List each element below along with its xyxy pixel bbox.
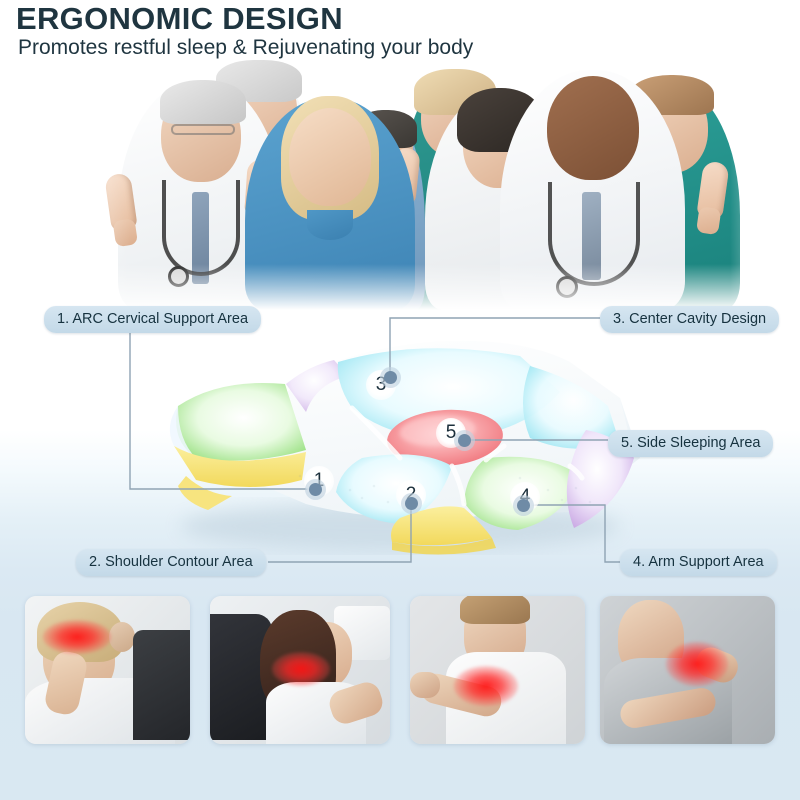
pain-highlight — [666, 642, 728, 686]
pain-highlight — [43, 620, 111, 654]
symptom-card-headache[interactable]: Headache — [25, 596, 190, 744]
neck-pain-photo — [210, 596, 390, 744]
page-title: ERGONOMIC DESIGN — [16, 1, 343, 37]
marker-dot-4 — [517, 499, 530, 512]
symptom-card-arm-numbness[interactable]: Arm Numbness — [410, 596, 585, 744]
pain-highlight — [272, 652, 330, 686]
marker-dot-2 — [405, 497, 418, 510]
callout-pill-3[interactable]: 3. Center Cavity Design — [600, 306, 779, 333]
callout-pill-5[interactable]: 5. Side Sleeping Area — [608, 430, 773, 457]
marker-dot-5 — [458, 434, 471, 447]
page-subtitle: Promotes restful sleep & Rejuvenating yo… — [18, 36, 473, 60]
callout-pill-4[interactable]: 4. Arm Support Area — [620, 549, 777, 576]
symptom-card-neck-pain[interactable]: Neck Pain — [210, 596, 390, 744]
symptom-cards-row: Headache Neck Pain Arm Numbness — [0, 596, 800, 800]
symptom-card-stiff-shoulders[interactable]: Stiff Shoulders — [600, 596, 775, 744]
marker-dot-3 — [384, 371, 397, 384]
marker-dot-1 — [309, 483, 322, 496]
callout-pill-2[interactable]: 2. Shoulder Contour Area — [76, 549, 266, 576]
callout-pill-1[interactable]: 1. ARC Cervical Support Area — [44, 306, 261, 333]
stiff-shoulders-photo — [600, 596, 775, 744]
arm-numbness-photo — [410, 596, 585, 744]
headache-photo — [25, 596, 190, 744]
pain-highlight — [454, 666, 518, 706]
doctors-thumbsup-photo — [0, 52, 800, 310]
